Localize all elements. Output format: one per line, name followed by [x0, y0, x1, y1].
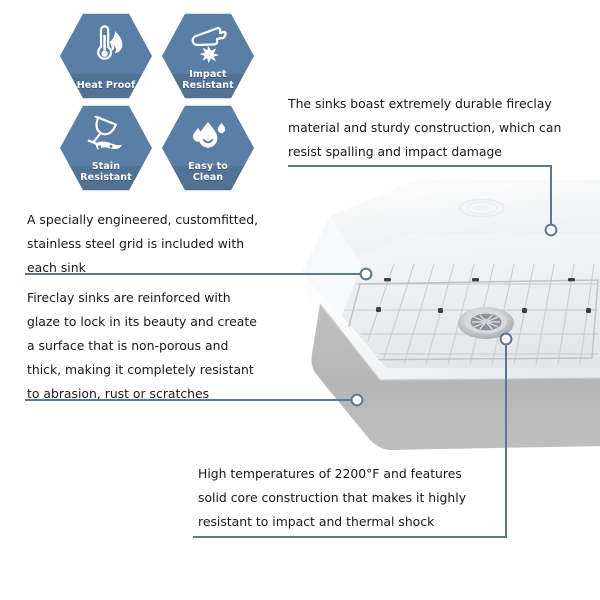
- badge-label: Easy to Clean: [162, 162, 254, 183]
- callout-line: glaze to lock in its beauty and create: [27, 310, 257, 334]
- callout-line: resist spalling and impact damage: [288, 140, 561, 164]
- fireclay-sink-illustration: [296, 168, 600, 458]
- badge-easy-to-clean[interactable]: Easy to Clean: [162, 104, 254, 192]
- callout-line: stainless steel grid is included with: [27, 232, 258, 256]
- callout-line: The sinks boast extremely durable firecl…: [288, 92, 561, 116]
- callout-line: solid core construction that makes it hi…: [198, 486, 466, 510]
- callout-line: material and sturdy construction, which …: [288, 116, 561, 140]
- thermal-shock-callout-text: High temperatures of 2200°F and features…: [198, 462, 466, 534]
- badge-label: Stain Resistant: [60, 162, 152, 183]
- callout-line: resistant to impact and thermal shock: [198, 510, 466, 534]
- drain-strainer: [458, 307, 514, 339]
- glaze-callout-text: Fireclay sinks are reinforced with glaze…: [27, 286, 257, 406]
- badge-label: Impact Resistant: [162, 70, 254, 91]
- callout-line: a surface that is non-porous and: [27, 334, 257, 358]
- badge-impact-resistant[interactable]: Impact Resistant: [162, 12, 254, 100]
- spilled-wine-glass-icon: [83, 116, 129, 156]
- infographic-canvas: Heat Proof Impact Resistant: [0, 0, 600, 600]
- feature-badge-group: Heat Proof Impact Resistant: [58, 12, 258, 192]
- grid-callout-text: A specially engineered, customfitted, st…: [27, 208, 258, 280]
- callout-line: each sink: [27, 256, 258, 280]
- badge-label: Heat Proof: [60, 81, 152, 92]
- thermometer-flame-icon: [83, 24, 129, 64]
- hammer-impact-icon: [185, 24, 231, 64]
- callout-line: thick, making it completely resistant: [27, 358, 257, 382]
- faucet-deck-hole: [460, 200, 504, 217]
- badge-stain-resistant[interactable]: Stain Resistant: [60, 104, 152, 192]
- callout-line: High temperatures of 2200°F and features: [198, 462, 466, 486]
- callout-line: Fireclay sinks are reinforced with: [27, 286, 257, 310]
- badge-heat-proof[interactable]: Heat Proof: [60, 12, 152, 100]
- durability-callout-text: The sinks boast extremely durable firecl…: [288, 92, 561, 164]
- callout-line: A specially engineered, customfitted,: [27, 208, 258, 232]
- water-droplets-icon: [185, 116, 231, 156]
- callout-line: to abrasion, rust or scratches: [27, 382, 257, 406]
